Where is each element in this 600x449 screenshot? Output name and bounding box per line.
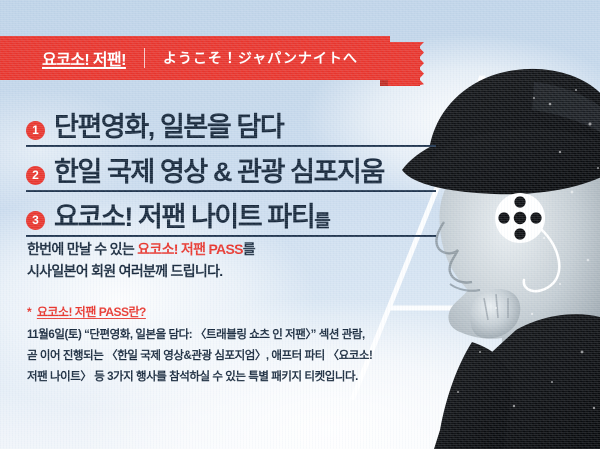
footnote-title: * 요코소! 저팬 PASS란?	[27, 303, 146, 320]
headline-item-2: 2 한일 국제 영상 & 관광 심포지움	[26, 149, 436, 192]
footnote-marker: *	[27, 305, 31, 319]
ribbon-tail	[388, 42, 424, 86]
footnote-title-text: 요코소! 저팬 PASS란?	[37, 305, 146, 319]
ribbon-japanese-label: ようこそ！ジャパンナイトへ	[163, 48, 358, 68]
headline-item-3: 3 요코소! 저팬 나이트 파티 를	[26, 194, 436, 237]
subtext-line1-after: 를	[243, 241, 255, 257]
headline-list: 1 단편영화, 일본을 담다 2 한일 국제 영상 & 관광 심포지움 3 요코…	[26, 104, 436, 239]
ribbon-content: 요코소! 저팬! ようこそ！ジャパンナイトへ	[0, 36, 390, 80]
subtext-block: 한번에 만날 수 있는 요코소! 저팬 PASS를 시사일본어 회원 여러분께 …	[27, 238, 427, 282]
headline-text-3: 요코소! 저팬 나이트 파티	[54, 204, 314, 235]
footnote-line-3: 저팬 나이트〉 등 3가지 행사를 참석하실 수 있는 특별 패키지 티켓입니다…	[27, 367, 447, 388]
promo-poster: 요코소! 저팬! ようこそ！ジャパンナイトへ 1 단편영화, 일본을 담다 2 …	[0, 0, 600, 449]
headline-item-1: 1 단편영화, 일본을 담다	[26, 104, 436, 147]
subtext-pass-highlight: 요코소! 저팬 PASS	[137, 241, 243, 257]
footnote-line-2: 곧 이어 진행되는 〈한일 국제 영상&관광 심포지엄〉, 애프터 파티 〈요코…	[27, 346, 447, 367]
headline-badge-2: 2	[26, 166, 45, 185]
ribbon-divider	[144, 48, 145, 68]
headline-text-1: 단편영화, 일본을 담다	[54, 114, 283, 145]
footnote-body: 11월6일(토) “단편영화, 일본을 담다: 〈트래블링 쇼츠 인 저팬〉” …	[27, 325, 447, 388]
subtext-line-1: 한번에 만날 수 있는 요코소! 저팬 PASS를	[27, 238, 427, 260]
footnote-line-1: 11월6일(토) “단편영화, 일본을 담다: 〈트래블링 쇼츠 인 저팬〉” …	[27, 325, 447, 346]
ribbon-korean-label: 요코소! 저팬!	[42, 46, 126, 70]
headline-badge-3: 3	[26, 211, 45, 230]
subtext-line1-before: 한번에 만날 수 있는	[27, 241, 137, 257]
headline-badge-1: 1	[26, 121, 45, 140]
headline-text-2: 한일 국제 영상 & 관광 심포지움	[54, 159, 384, 190]
headline-suffix-3: 를	[314, 212, 330, 235]
header-ribbon: 요코소! 저팬! ようこそ！ジャパンナイトへ	[0, 36, 420, 80]
subtext-line-2: 시사일본어 회원 여러분께 드립니다.	[27, 260, 427, 282]
